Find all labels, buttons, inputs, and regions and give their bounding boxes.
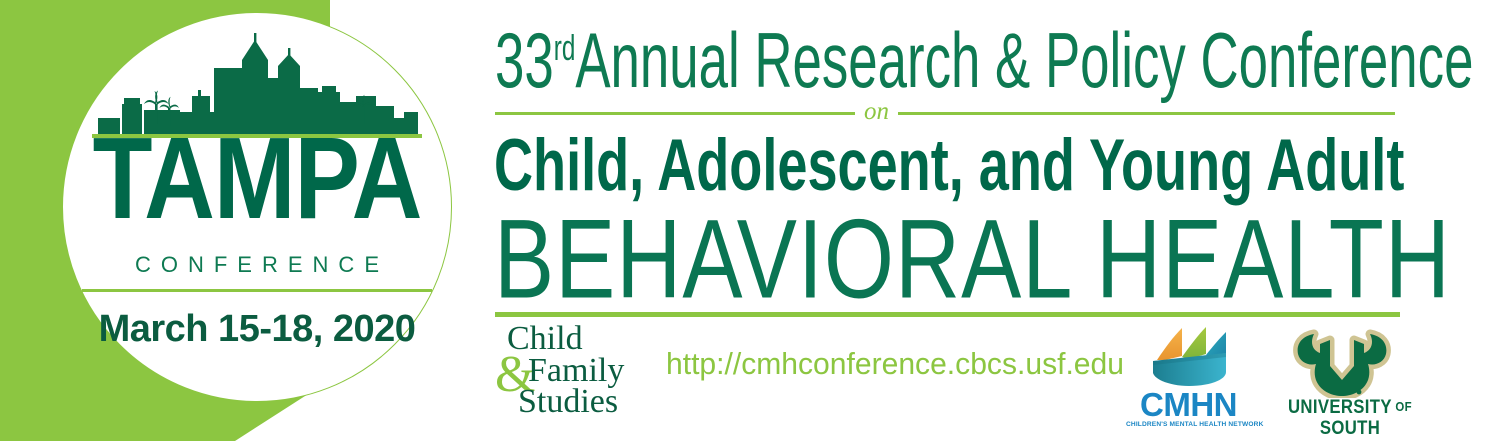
title-line-topic: BEHAVIORAL HEALTH <box>494 196 1451 323</box>
usf-bull-icon <box>1292 326 1392 398</box>
cmhn-acronym: CMHN <box>1126 388 1251 422</box>
usf-logo: UNIVERSITY OF SOUTH FLORIDA <box>1270 326 1430 436</box>
usf-university-word: UNIVERSITY <box>1288 397 1392 418</box>
conference-banner: TAMPA CONFERENCE March 15-18, 2020 33rdA… <box>0 0 1500 441</box>
footer-divider-rule <box>495 312 1400 317</box>
conference-title-block: 33rdAnnual Research & Policy Conference … <box>490 0 1500 441</box>
title-line-annual-rest: Annual Research & Policy Conference <box>575 16 1473 103</box>
cfs-word-studies: Studies <box>518 385 618 419</box>
title-line-annual: 33rdAnnual Research & Policy Conference <box>495 14 1403 106</box>
tampa-conference-logo: TAMPA CONFERENCE March 15-18, 2020 <box>0 0 470 441</box>
child-family-studies-logo: & Child Family Studies <box>495 322 665 427</box>
logo-divider-rule <box>82 289 432 292</box>
usf-name-line2: SOUTH FLORIDA <box>1280 418 1421 441</box>
usf-of-word: OF <box>1392 399 1412 414</box>
logo-city-name: TAMPA <box>62 120 452 236</box>
logo-subtitle: CONFERENCE <box>62 252 452 278</box>
divider-rule-left <box>495 112 855 115</box>
logo-date: March 15-18, 2020 <box>62 308 452 351</box>
usf-name-line1: UNIVERSITY OF <box>1280 396 1421 419</box>
ordinal-suffix: rd <box>554 29 576 68</box>
ordinal-number: 33 <box>495 16 554 103</box>
cmhn-logo: CMHN CHILDREN'S MENTAL HEALTH NETWORK <box>1126 326 1251 431</box>
conference-url[interactable]: http://cmhconference.cbcs.usf.edu <box>666 345 1124 383</box>
cmhn-tagline: CHILDREN'S MENTAL HEALTH NETWORK <box>1126 420 1251 429</box>
divider-rule-right <box>898 112 1395 115</box>
cfs-word-child: Child <box>507 322 583 356</box>
logo-contents: TAMPA CONFERENCE March 15-18, 2020 <box>62 12 452 402</box>
cmhn-ribbon-icon <box>1141 326 1237 388</box>
